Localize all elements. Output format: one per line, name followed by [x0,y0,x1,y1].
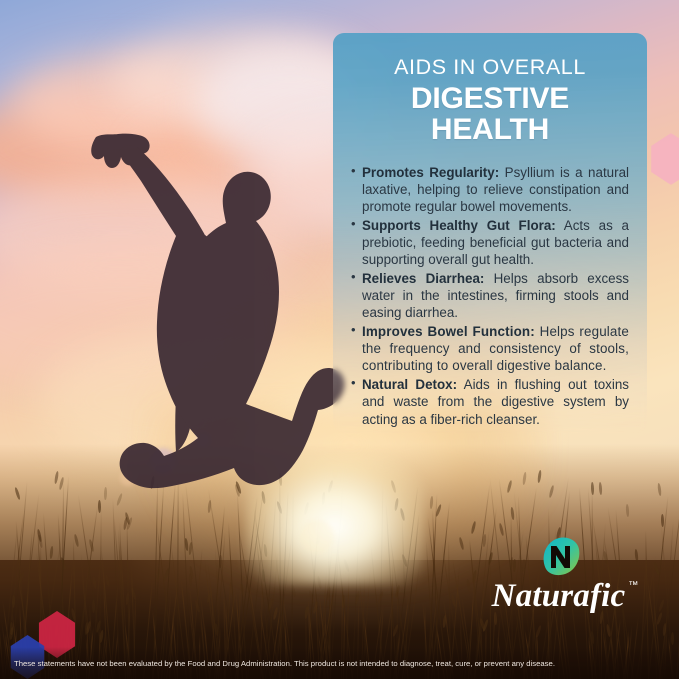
grass-seed-head [671,632,674,645]
grass-seed-head [591,481,595,494]
leaf-n-icon [537,535,581,579]
grass-seed-head [53,470,58,483]
grass-seed-head [510,507,515,520]
grass-seed-head [92,600,95,613]
grass-seed-head [104,487,107,500]
grass-seed-head [657,483,662,496]
grass-seed-head [430,496,434,509]
grass-seed-head [116,493,123,506]
lens-flare-bokeh [120,470,136,486]
grass-seed-head [74,534,80,547]
grass-seed-head [14,487,21,500]
grass-seed-head [49,545,53,558]
disclaimer-text: These statements have not been evaluated… [14,659,555,668]
benefit-item: Promotes Regularity: Psyllium is a natur… [351,164,629,216]
grass-seed-head [506,479,512,492]
grass-seed-head [308,589,315,602]
grass-seed-head [661,514,664,527]
card-kicker: AIDS IN OVERALL [349,57,631,79]
lens-flare-bokeh [300,520,334,554]
grass-seed-head [150,476,155,489]
benefit-item: Natural Detox: Aids in flushing out toxi… [351,376,629,428]
brand-wordmark: Naturafic™ [492,580,626,613]
benefit-term: Promotes Regularity: [362,165,499,180]
benefit-item: Supports Healthy Gut Flora: Acts as a pr… [351,217,629,269]
card-headline: DIGESTIVE HEALTH [349,83,631,146]
trademark-symbol: ™ [628,581,638,591]
brand-name: Naturafic [492,578,626,614]
grass-seed-head [471,521,477,534]
grass-seed-head [522,472,527,485]
grass-seed-head [458,537,464,550]
benefit-item: Improves Bowel Function: Helps regulate … [351,323,629,375]
grass-seed-head [548,484,554,497]
benefit-list: Promotes Regularity: Psyllium is a natur… [349,164,631,428]
grass-seed-head [537,470,542,483]
fda-disclaimer: These statements have not been evaluated… [0,647,679,679]
digestive-health-card: AIDS IN OVERALL DIGESTIVE HEALTH Promote… [333,33,647,433]
brand-logo: Naturafic™ [466,535,651,617]
sun-core [245,455,425,585]
grass-seed-head [625,504,629,517]
benefit-term: Improves Bowel Function: [362,324,535,339]
lens-flare-bokeh [150,448,176,474]
grass-seed-head [658,599,665,612]
benefit-item: Relieves Diarrhea: Helps absorb excess w… [351,270,629,322]
benefit-term: Relieves Diarrhea: [362,271,484,286]
grass-seed-head [599,482,603,495]
grass-seed-head [156,568,160,581]
grass-seed-head [535,625,542,638]
benefit-term: Supports Healthy Gut Flora: [362,218,556,233]
infographic-canvas: AIDS IN OVERALL DIGESTIVE HEALTH Promote… [0,0,679,679]
benefit-term: Natural Detox: [362,377,457,392]
lens-flare-bokeh [196,433,210,447]
grass-seed-head [92,576,97,589]
